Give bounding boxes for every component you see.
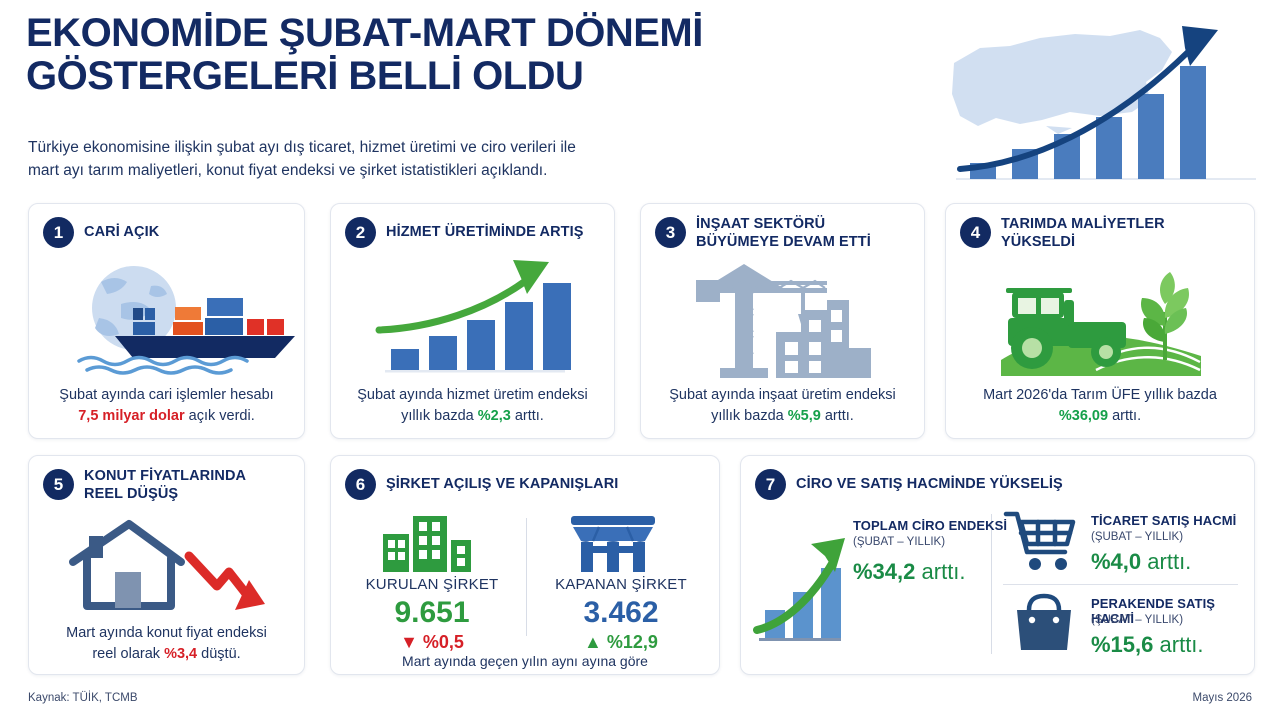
perakende-satis-value: %15,6 arttı. <box>1091 632 1204 658</box>
caption-highlight: %36,09 <box>1059 408 1108 424</box>
divider-horizontal <box>1003 584 1238 585</box>
ticaret-satis-percent: %4,0 <box>1091 549 1141 574</box>
card-caption: Şubat ayında inşaat üretim endeksi yıllı… <box>649 385 916 426</box>
card-sirket-acilis-kapanis[interactable]: 6 ŞİRKET AÇILIŞ VE KAPANIŞLARI KURULAN Ş… <box>330 455 720 675</box>
caption-pre: Mart ayında konut fiyat endeksi <box>66 625 267 641</box>
kapanan-sirket-value: 3.462 <box>531 596 711 630</box>
divider <box>526 518 527 636</box>
bar-chart-green-arrow-icon <box>753 508 849 648</box>
tractor-field-plant-icon <box>946 264 1256 382</box>
perakende-satis-percent: %15,6 <box>1091 632 1153 657</box>
card-title: CARİ AÇIK <box>84 224 294 242</box>
card6-footnote: Mart ayında geçen yılın aynı ayına göre <box>339 652 711 672</box>
bar-chart-up-arrow-icon <box>331 258 616 378</box>
caption-post: arttı. <box>1112 408 1141 424</box>
divider-vertical <box>991 514 992 654</box>
card-title: CİRO VE SATIŞ HACMİNDE YÜKSELİŞ <box>796 476 1244 494</box>
caption-highlight: %2,3 <box>478 408 511 424</box>
toplam-ciro-period: (ŞUBAT – YILLIK) <box>853 536 945 548</box>
toplam-ciro-percent: %34,2 <box>853 559 915 584</box>
caption-post: arttı. <box>515 408 544 424</box>
card-konut-fiyatlari[interactable]: 5 KONUT FİYATLARINDA REEL DÜŞÜŞ Mart ayı… <box>28 455 305 675</box>
card-title-line1: TARIMDA MALİYETLER <box>1001 216 1244 234</box>
card-caption: Mart 2026'da Tarım ÜFE yıllık bazda %36,… <box>954 385 1246 426</box>
arrow-down-icon: ▼ <box>400 632 418 652</box>
kurulan-sirket-label: KURULAN ŞİRKET <box>347 576 517 593</box>
card-number-badge: 1 <box>43 217 74 248</box>
kapanan-sirket-label: KAPANAN ŞİRKET <box>531 576 711 593</box>
card-tarimda-maliyetler[interactable]: 4 TARIMDA MALİYETLER YÜKSELDİ <box>945 203 1255 439</box>
page-title-line1: EKONOMİDE ŞUBAT-MART DÖNEMİ <box>26 12 926 55</box>
card-insaat-sektoru[interactable]: 3 İNŞAAT SEKTÖRÜ BÜYÜMEYE DEVAM ETTİ <box>640 203 925 439</box>
card-ciro-satis-hacmi[interactable]: 7 CİRO VE SATIŞ HACMİNDE YÜKSELİŞ TOPLAM… <box>740 455 1255 675</box>
office-buildings-icon <box>369 514 489 572</box>
caption-pre: Şubat ayında hizmet üretim endeksi <box>357 387 588 403</box>
card-number-badge: 2 <box>345 217 376 248</box>
ticaret-satis-label: TİCARET SATIŞ HACMİ <box>1091 513 1236 528</box>
card-title-line2: REEL DÜŞÜŞ <box>84 486 294 504</box>
caption-pre: Mart 2026'da Tarım ÜFE yıllık bazda <box>983 387 1217 403</box>
caption-post: arttı. <box>825 408 854 424</box>
ticaret-satis-value: %4,0 arttı. <box>1091 549 1191 575</box>
card-title: ŞİRKET AÇILIŞ VE KAPANIŞLARI <box>386 476 709 494</box>
card-caption: Şubat ayında hizmet üretim endeksi yıllı… <box>339 385 606 426</box>
page-subtitle: Türkiye ekonomisine ilişkin şubat ayı dı… <box>28 136 728 183</box>
kurulan-sirket-delta-value: %0,5 <box>423 632 464 652</box>
card-number-badge: 4 <box>960 217 991 248</box>
card-hizmet-uretimi[interactable]: 2 HİZMET ÜRETİMİNDE ARTIŞ Şubat ayında h… <box>330 203 615 439</box>
turkey-map-growth-chart-icon <box>950 8 1270 193</box>
page-title: EKONOMİDE ŞUBAT-MART DÖNEMİ GÖSTERGELERİ… <box>26 12 926 98</box>
storefront-shop-icon <box>553 514 673 572</box>
ticaret-satis-period: (ŞUBAT – YILLIK) <box>1091 531 1183 543</box>
construction-crane-icon <box>641 262 926 380</box>
page-subtitle-line2: mart ayı tarım maliyetleri, konut fiyat … <box>28 159 728 182</box>
card-title-line1: KONUT FİYATLARINDA <box>84 468 294 486</box>
caption-pre: Şubat ayında cari işlemler hesabı <box>59 387 273 403</box>
perakende-satis-period: (ŞUBAT – YILLIK) <box>1091 614 1183 626</box>
caption-post: açık verdi. <box>189 408 255 424</box>
toplam-ciro-label: TOPLAM CİRO ENDEKSİ <box>853 518 1007 533</box>
caption-highlight: %3,4 <box>164 646 197 662</box>
caption-mid: yıllık bazda <box>711 408 784 424</box>
card-number-badge: 6 <box>345 469 376 500</box>
kapanan-sirket-delta: ▲ %12,9 <box>531 632 711 653</box>
card-title: TARIMDA MALİYETLER YÜKSELDİ <box>1001 216 1244 251</box>
kapanan-sirket-delta-value: %12,9 <box>607 632 658 652</box>
card-number-badge: 7 <box>755 469 786 500</box>
card-title: HİZMET ÜRETİMİNDE ARTIŞ <box>386 224 604 242</box>
toplam-ciro-suffix: arttı. <box>922 559 966 584</box>
card-caption: Mart ayında konut fiyat endeksi reel ola… <box>37 623 296 664</box>
caption-highlight: 7,5 milyar dolar <box>78 408 184 424</box>
arrow-up-icon: ▲ <box>584 632 602 652</box>
ticaret-satis-suffix: arttı. <box>1147 549 1191 574</box>
page-subtitle-line1: Türkiye ekonomisine ilişkin şubat ayı dı… <box>28 136 728 159</box>
card-title-line2: BÜYÜMEYE DEVAM ETTİ <box>696 234 914 252</box>
house-down-arrow-icon <box>29 518 306 618</box>
card-title: İNŞAAT SEKTÖRÜ BÜYÜMEYE DEVAM ETTİ <box>696 216 914 251</box>
perakende-satis-suffix: arttı. <box>1160 632 1204 657</box>
card-title: KONUT FİYATLARINDA REEL DÜŞÜŞ <box>84 468 294 503</box>
card-caption: Şubat ayında cari işlemler hesabı 7,5 mi… <box>37 385 296 426</box>
shopping-cart-icon <box>1003 508 1079 572</box>
footer-date: Mayıs 2026 <box>1193 692 1252 704</box>
card-number-badge: 3 <box>655 217 686 248</box>
card-title-line1: İNŞAAT SEKTÖRÜ <box>696 216 914 234</box>
kurulan-sirket-delta: ▼ %0,5 <box>347 632 517 653</box>
card-number-badge: 5 <box>43 469 74 500</box>
caption-highlight: %5,9 <box>788 408 821 424</box>
toplam-ciro-value: %34,2 arttı. <box>853 559 966 585</box>
shopping-bag-icon <box>1009 592 1079 654</box>
card-title-line2: YÜKSELDİ <box>1001 234 1244 252</box>
page-title-line2: GÖSTERGELERİ BELLİ OLDU <box>26 55 926 98</box>
globe-cargo-ship-icon <box>29 256 306 376</box>
header: EKONOMİDE ŞUBAT-MART DÖNEMİ GÖSTERGELERİ… <box>0 0 1280 192</box>
caption-post: düştü. <box>201 646 241 662</box>
card-cari-acik[interactable]: 1 CARİ AÇIK Şubat ayında cari işlemler <box>28 203 305 439</box>
caption-mid: yıllık bazda <box>401 408 474 424</box>
kurulan-sirket-value: 9.651 <box>347 596 517 630</box>
caption-pre: Şubat ayında inşaat üretim endeksi <box>669 387 896 403</box>
footer-source: Kaynak: TÜİK, TCMB <box>28 692 138 704</box>
caption-mid: reel olarak <box>92 646 160 662</box>
